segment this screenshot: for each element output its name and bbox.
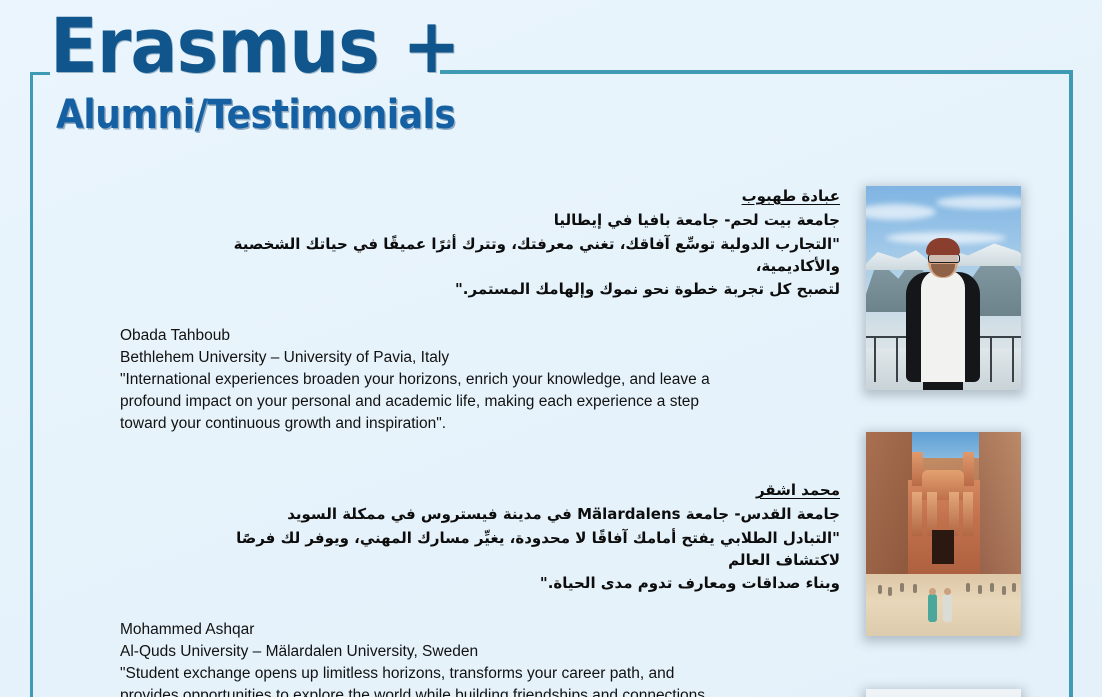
testimonials-container: عبادة طهبوب جامعة بيت لحم- جامعة بافيا ف…	[120, 185, 840, 697]
testimonial-affiliation-en: Bethlehem University – University of Pav…	[120, 347, 720, 369]
photo-cliff-left	[866, 432, 912, 584]
testimonial-english: Mohammed Ashqar Al-Quds University – Mäl…	[120, 619, 720, 697]
photo-railing	[896, 336, 898, 382]
photo-crowd-figure	[888, 587, 892, 596]
testimonial-photo-third-cropped	[866, 689, 1021, 697]
frame-line-top	[440, 70, 1073, 74]
photo-crowd-figure	[900, 583, 904, 592]
frame-line-left	[30, 72, 33, 697]
testimonial-quote-ar: "التبادل الطلابي يفتح أمامك آفاقًا لا مح…	[200, 527, 840, 595]
photo-crowd-figure	[990, 583, 994, 592]
photo-third-content	[866, 689, 1021, 697]
photo-crowd-figure	[1012, 583, 1016, 592]
testimonial-arabic: محمد اشقر جامعة القدس- جامعة Mälardalens…	[200, 479, 840, 595]
photo-treasury-column	[963, 492, 973, 536]
testimonial-item: عبادة طهبوب جامعة بيت لحم- جامعة بافيا ف…	[120, 185, 840, 435]
photo-railing	[874, 336, 876, 382]
photo-crowd-figure	[966, 583, 970, 592]
photo-crowd-figure	[1002, 586, 1006, 595]
photo-person-beanie	[926, 238, 960, 255]
photo-person-glasses	[928, 254, 960, 263]
photo-cloud	[936, 196, 1021, 209]
testimonial-english: Obada Tahboub Bethlehem University – Uni…	[120, 325, 720, 435]
testimonial-arabic: عبادة طهبوب جامعة بيت لحم- جامعة بافيا ف…	[200, 185, 840, 301]
photo-treasury-doorway	[932, 530, 954, 564]
photo-crowd-figure	[913, 584, 917, 593]
photo-treasury-column	[912, 492, 922, 536]
testimonial-name-en: Mohammed Ashqar	[120, 619, 720, 641]
photo-crowd-figure	[878, 585, 882, 594]
photo-student-left	[928, 594, 937, 622]
title-block: Erasmus + Alumni/Testimonials	[50, 10, 470, 136]
testimonial-name-ar: عبادة طهبوب	[200, 185, 840, 208]
testimonial-name-ar: محمد اشقر	[200, 479, 840, 502]
photo-railing	[990, 336, 992, 382]
testimonial-quote-en: "Student exchange opens up limitless hor…	[120, 663, 720, 697]
photo-railing	[1012, 336, 1014, 382]
page-title: Erasmus +	[50, 10, 436, 82]
frame-corner-tick	[30, 72, 50, 75]
photo-student-right-head	[944, 588, 951, 595]
photo-student-left-head	[929, 588, 936, 595]
testimonial-affiliation-ar: جامعة القدس- جامعة Mälardalens في مدينة …	[200, 503, 840, 526]
slide-canvas: Erasmus + Alumni/Testimonials عبادة طهبو…	[0, 0, 1102, 697]
photo-cliff-right	[979, 432, 1021, 584]
testimonial-affiliation-en: Al-Quds University – Mälardalen Universi…	[120, 641, 720, 663]
page-subtitle: Alumni/Testimonials	[56, 94, 429, 136]
testimonial-photo-petra	[866, 432, 1021, 636]
testimonial-quote-en: "International experiences broaden your …	[120, 369, 720, 435]
photo-crowd-figure	[978, 585, 982, 594]
photo-treasury-pediment	[963, 452, 974, 486]
photo-person-hoodie	[921, 270, 965, 382]
testimonial-quote-ar: "التجارب الدولية توسِّع آفاقك، تغني معرف…	[200, 233, 840, 301]
testimonial-photo-alps	[866, 186, 1021, 390]
testimonial-affiliation-ar: جامعة بيت لحم- جامعة بافيا في إيطاليا	[200, 209, 840, 232]
testimonial-item: محمد اشقر جامعة القدس- جامعة Mälardalens…	[120, 479, 840, 697]
testimonial-name-en: Obada Tahboub	[120, 325, 720, 347]
frame-line-right	[1069, 70, 1073, 697]
photo-student-right	[943, 594, 952, 622]
